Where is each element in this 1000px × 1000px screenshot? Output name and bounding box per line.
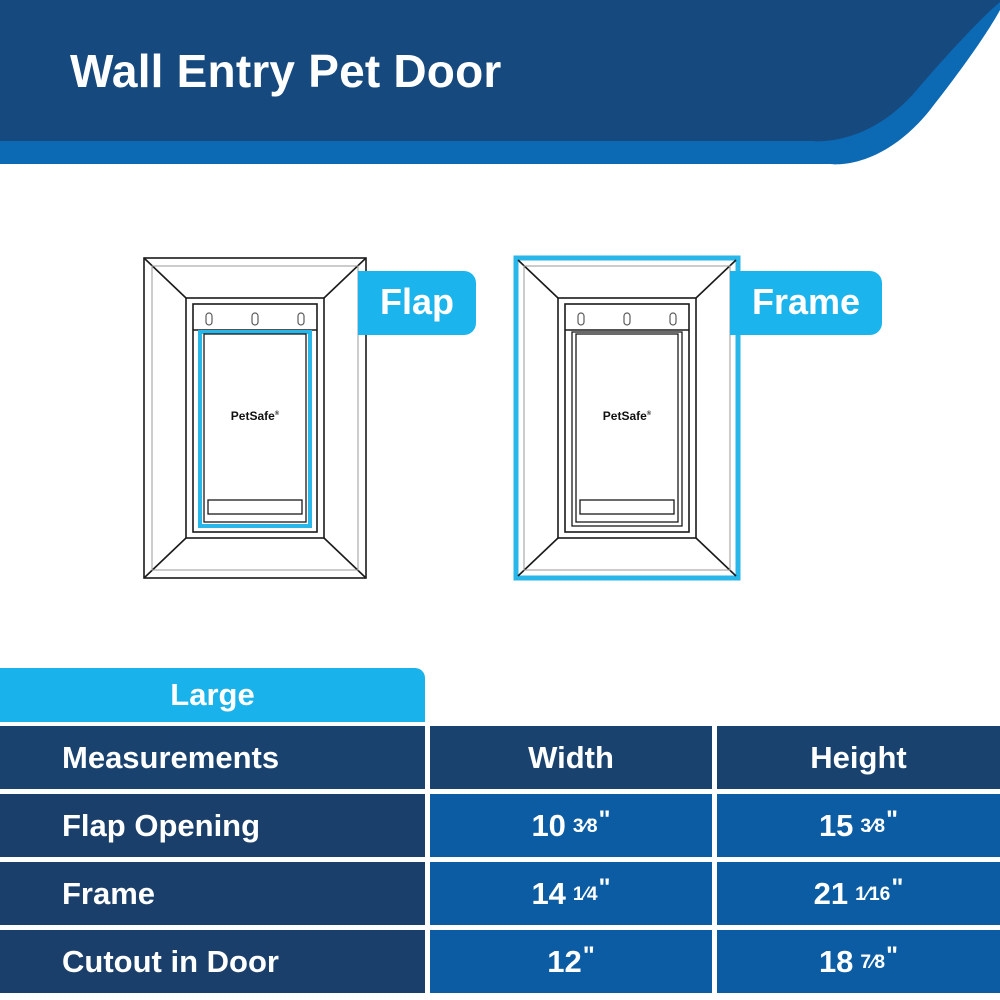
table-header-row: Measurements Width Height xyxy=(0,726,1000,789)
header-label-measurements: Measurements xyxy=(62,740,279,776)
rivet-icon xyxy=(624,313,630,325)
value-fraction: 1⁄4 xyxy=(573,884,598,906)
header-cell-width: Width xyxy=(430,726,712,789)
cell-frame-width: 141⁄4" xyxy=(430,862,712,925)
value-whole: 12 xyxy=(547,944,581,980)
cell-frame-height: 211⁄16" xyxy=(717,862,1000,925)
fraction-numerator: 3 xyxy=(860,816,871,837)
row-label-flap-opening: Flap Opening xyxy=(0,794,425,857)
header-label-height: Height xyxy=(810,740,906,776)
unit-mark: " xyxy=(599,806,611,835)
table-row: Frame 141⁄4" 211⁄16" xyxy=(0,862,1000,925)
fraction-numerator: 1 xyxy=(573,884,584,905)
cell-cutout-width: 12" xyxy=(430,930,712,993)
header-label-width: Width xyxy=(528,740,614,776)
size-tab-row: Large xyxy=(0,668,1000,722)
fraction-denominator: 8 xyxy=(874,952,885,973)
value-wrapper: 103⁄8" xyxy=(531,808,610,844)
cell-cutout-height: 187⁄8" xyxy=(717,930,1000,993)
unit-mark: " xyxy=(891,874,903,903)
value-whole: 10 xyxy=(531,808,565,844)
unit-mark: " xyxy=(583,942,595,971)
value-whole: 18 xyxy=(819,944,853,980)
cell-flap-opening-height: 153⁄8" xyxy=(717,794,1000,857)
badge-frame: Frame xyxy=(730,271,882,335)
pet-door-flap-illustration: PetSafe® Flap xyxy=(140,254,370,582)
cell-flap-opening-width: 103⁄8" xyxy=(430,794,712,857)
rivet-icon xyxy=(206,313,212,325)
brand-logo-text: PetSafe® xyxy=(231,409,280,423)
value-wrapper: 141⁄4" xyxy=(531,876,610,912)
fraction-denominator: 8 xyxy=(587,816,598,837)
illustration-area: PetSafe® Flap xyxy=(0,166,1000,656)
value-wrapper: 12" xyxy=(547,944,595,980)
value-fraction: 3⁄8 xyxy=(860,816,885,838)
fraction-numerator: 1 xyxy=(855,884,866,905)
value-whole: 14 xyxy=(531,876,565,912)
badge-flap: Flap xyxy=(358,271,476,335)
value-fraction: 1⁄16 xyxy=(855,884,890,906)
size-tab-spacer xyxy=(425,668,1000,722)
badge-flap-label: Flap xyxy=(380,284,454,320)
value-whole: 21 xyxy=(814,876,848,912)
row-label-text: Flap Opening xyxy=(62,808,260,844)
rivet-icon xyxy=(670,313,676,325)
table-row: Cutout in Door 12" 187⁄8" xyxy=(0,930,1000,993)
size-tab-label: Large xyxy=(170,677,254,713)
rivet-icon xyxy=(578,313,584,325)
fraction-denominator: 16 xyxy=(869,884,890,905)
specifications-table: Large Measurements Width Height Flap Ope… xyxy=(0,668,1000,993)
value-wrapper: 153⁄8" xyxy=(819,808,898,844)
size-tab-large: Large xyxy=(0,668,425,722)
page-title: Wall Entry Pet Door xyxy=(70,44,501,98)
rivet-icon xyxy=(298,313,304,325)
fraction-numerator: 3 xyxy=(573,816,584,837)
row-label-cutout-in-door: Cutout in Door xyxy=(0,930,425,993)
badge-frame-label: Frame xyxy=(752,284,860,320)
pet-door-frame-illustration: PetSafe® Frame xyxy=(512,254,742,582)
fraction-denominator: 4 xyxy=(587,884,598,905)
fraction-numerator: 7 xyxy=(860,952,871,973)
row-label-frame: Frame xyxy=(0,862,425,925)
value-wrapper: 187⁄8" xyxy=(819,944,898,980)
header-cell-height: Height xyxy=(717,726,1000,789)
unit-mark: " xyxy=(886,942,898,971)
value-fraction: 7⁄8 xyxy=(860,952,885,974)
value-wrapper: 211⁄16" xyxy=(814,876,904,912)
rivet-icon xyxy=(252,313,258,325)
value-fraction: 3⁄8 xyxy=(573,816,598,838)
brand-logo-text: PetSafe® xyxy=(603,409,652,423)
row-label-text: Cutout in Door xyxy=(62,944,279,980)
header-cell-measurements: Measurements xyxy=(0,726,425,789)
unit-mark: " xyxy=(886,806,898,835)
unit-mark: " xyxy=(599,874,611,903)
pet-door-drawing-flap: PetSafe® xyxy=(140,254,370,582)
table-row: Flap Opening 103⁄8" 153⁄8" xyxy=(0,794,1000,857)
page-header: Wall Entry Pet Door xyxy=(0,0,1000,166)
fraction-denominator: 8 xyxy=(874,816,885,837)
value-whole: 15 xyxy=(819,808,853,844)
pet-door-drawing-frame: PetSafe® xyxy=(512,254,742,582)
row-label-text: Frame xyxy=(62,876,155,912)
